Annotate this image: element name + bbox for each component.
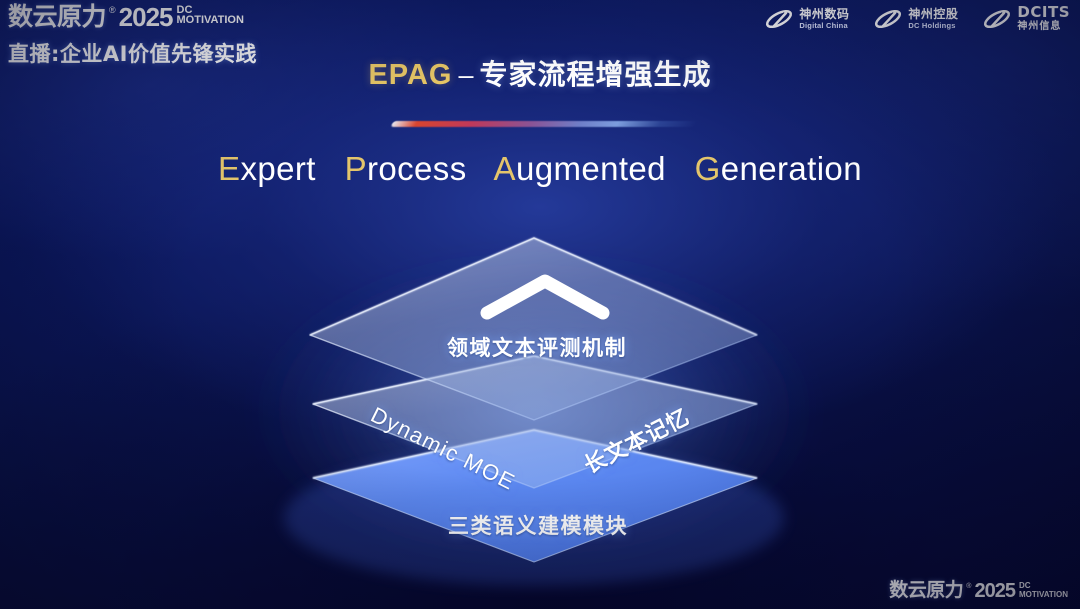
watermark-brand-logo: 数云原力 ® 2025 DC MOTIVATION	[889, 581, 1068, 601]
brand-logo-registered: ®	[109, 6, 116, 15]
presentation-slide: 数云原力 ® 2025 DC MOTIVATION 直播:企业AI价值先锋实践 …	[0, 0, 1080, 609]
subtitle-rest: eneration	[721, 150, 862, 187]
partner-logo-dc-holdings: 神州控股 DC Holdings	[873, 6, 958, 32]
partner-text: DCITS 神州信息	[1017, 5, 1070, 32]
partner-text: 神州数码 Digital China	[799, 8, 849, 30]
page-title: EPAG–专家流程增强生成	[0, 53, 1080, 93]
watermark-cn: 数云原力	[889, 581, 963, 600]
subtitle-cap: A	[494, 150, 516, 187]
subtitle-space	[676, 150, 686, 187]
swoosh-icon	[873, 6, 903, 32]
watermark-logo: 数云原力 ® 2025 DC MOTIVATION	[889, 581, 1068, 601]
watermark-dc: DC	[1019, 582, 1068, 590]
brand-logo-motivation: MOTIVATION	[177, 15, 244, 26]
title-chinese: 专家流程增强生成	[480, 58, 712, 91]
partner-name-en: DC Holdings	[908, 22, 958, 30]
partner-name-cn: 神州控股	[908, 8, 958, 20]
subtitle-word-generation: Generation	[695, 150, 862, 187]
brand-logo: 数云原力 ® 2025 DC MOTIVATION	[8, 4, 257, 30]
partner-name-en: Digital China	[799, 22, 849, 30]
partner-name-en: 神州信息	[1017, 22, 1070, 32]
subtitle: Expert Process Augmented Generation	[0, 150, 1080, 188]
subtitle-space	[325, 150, 335, 187]
partner-logos: 神州数码 Digital China 神州控股 DC Holdings	[764, 5, 1070, 32]
swoosh-icon	[764, 6, 794, 32]
partner-logo-dcits: DCITS 神州信息	[982, 5, 1070, 32]
partner-text: 神州控股 DC Holdings	[908, 8, 958, 30]
subtitle-word-process: Process	[345, 150, 467, 187]
watermark-year: 2025	[974, 581, 1015, 601]
brand-logo-dc-motivation: DC MOTIVATION	[177, 5, 244, 26]
partner-name-cn: 神州数码	[799, 8, 849, 20]
subtitle-word-expert: Expert	[218, 150, 316, 187]
swoosh-icon	[982, 6, 1012, 32]
subtitle-word-augmented: Augmented	[494, 150, 666, 187]
subtitle-rest: ugmented	[516, 150, 666, 187]
title-dash: –	[453, 60, 480, 90]
gradient-divider	[390, 121, 697, 127]
partner-name-cn: DCITS	[1017, 5, 1070, 20]
subtitle-rest: xpert	[240, 150, 315, 187]
subtitle-cap: G	[695, 150, 721, 187]
partner-logo-digital-china: 神州数码 Digital China	[764, 6, 849, 32]
title-acronym: EPAG	[368, 59, 452, 91]
subtitle-cap: E	[218, 150, 240, 187]
subtitle-rest: rocess	[367, 150, 467, 187]
watermark-registered: ®	[966, 583, 971, 590]
watermark-dc-motivation: DC MOTIVATION	[1019, 582, 1068, 599]
subtitle-space	[476, 150, 486, 187]
brand-logo-year: 2025	[119, 4, 173, 30]
watermark-motivation: MOTIVATION	[1019, 590, 1068, 599]
brand-logo-cn: 数云原力	[8, 4, 106, 29]
subtitle-cap: P	[345, 150, 367, 187]
